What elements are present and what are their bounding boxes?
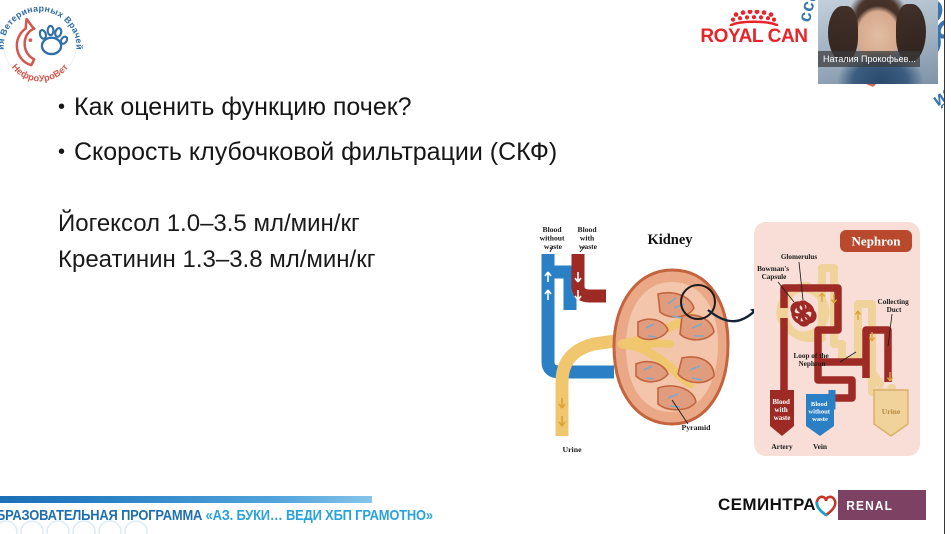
video-participant-tile[interactable]: Наталия Прокофьев...: [818, 0, 938, 84]
gfr-iohexol-line: Йогексол 1.0–3.5 мл/мин/кг: [58, 206, 578, 242]
svg-text:НефроУроВет: НефроУроВет: [10, 62, 70, 84]
label-bowmans-capsule: Bowman's Capsule: [757, 265, 791, 281]
footer-rule: [0, 496, 372, 503]
list-item: • Как оценить функцию почек?: [58, 90, 678, 124]
list-item: • Скорость клубочковой фильтрации (СКФ): [58, 135, 678, 169]
semintra-logo: СЕМИНТРА: [718, 492, 839, 518]
label-urine: Urine: [562, 445, 582, 454]
label-vein: Vein: [813, 442, 827, 451]
label-artery: Artery: [771, 442, 793, 451]
label-pyramid: Pyramid: [681, 423, 711, 432]
gfr-creatinine-line: Креатинин 1.3–3.8 мл/мин/кг: [58, 242, 578, 278]
status-badge: RENAL: [838, 490, 926, 520]
window-border-right: [944, 0, 945, 534]
footer-banner: БРАЗОВАТЕЛЬНАЯ ПРОГРАММА «АЗ. БУКИ… ВЕДИ…: [0, 480, 945, 534]
slide-canvas: ия Ветеринарных Врачей НефроУроВет ссоци…: [0, 0, 951, 534]
nephron-diagram: Blood with waste Blood without waste Uri…: [754, 222, 920, 456]
label-loop-of-nephron: Loop of the Nephron: [794, 352, 831, 368]
label-nephron-urine: Urine: [882, 407, 901, 416]
participant-name-label: Наталия Прокофьев...: [818, 51, 920, 67]
program-title-quote: «АЗ. БУКИ… ВЕДИ ХБП ГРАМОТНО»: [206, 507, 433, 524]
kidney-nephron-figure: Blood without waste Blood with waste Kid…: [522, 212, 922, 467]
bullet-text: Скорость клубочковой фильтрации (СКФ): [74, 135, 557, 169]
bullet-text: Как оценить функцию почек?: [74, 90, 412, 124]
royal-canin-logo: ROYAL CAN: [693, 10, 815, 52]
renal-badge-label: RENAL: [838, 498, 893, 513]
semintra-wordmark: СЕМИНТРА: [718, 495, 816, 515]
label-kidney-title: Kidney: [647, 232, 693, 248]
bullet-marker-icon: •: [58, 135, 74, 169]
slide-value-lines: Йогексол 1.0–3.5 мл/мин/кг Креатинин 1.3…: [58, 206, 578, 278]
label-glomerulus: Glomerulus: [781, 253, 818, 261]
label-blood-without-waste: Blood without waste: [540, 225, 567, 251]
kidney-diagram: Blood without waste Blood with waste Kid…: [540, 225, 758, 454]
slide-bullet-list: • Как оценить функцию почек? • Скорость …: [58, 90, 678, 180]
association-logo: ия Ветеринарных Врачей НефроУроВет: [0, 0, 88, 92]
program-title: БРАЗОВАТЕЛЬНАЯ ПРОГРАММА «АЗ. БУКИ… ВЕДИ…: [0, 507, 433, 524]
heart-icon: [813, 492, 839, 518]
crown-icon: [726, 10, 782, 26]
window-edge-filler: [945, 0, 951, 534]
program-title-prefix: БРАЗОВАТЕЛЬНАЯ ПРОГРАММА: [0, 507, 206, 524]
label-artery-blood: Blood with waste: [772, 398, 791, 422]
label-blood-with-waste: Blood with waste: [578, 225, 599, 251]
label-nephron-title: Nephron: [852, 234, 902, 249]
royal-canin-wordmark: ROYAL CAN: [693, 27, 815, 47]
bullet-marker-icon: •: [58, 90, 74, 124]
